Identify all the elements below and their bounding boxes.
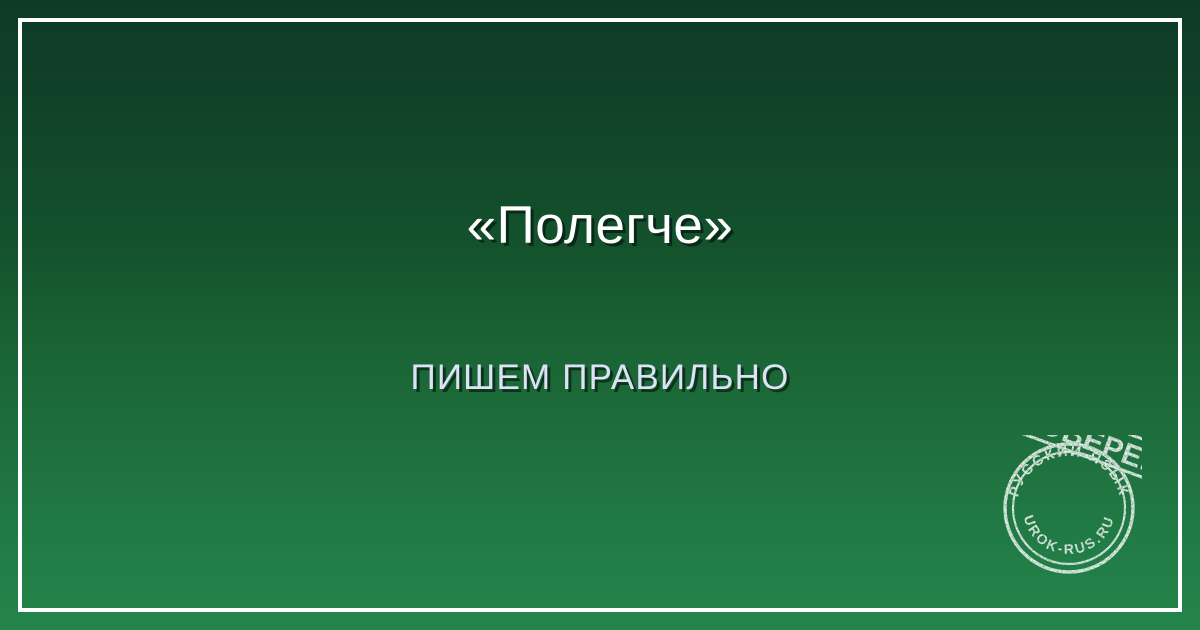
stamp-bottom-arc-textpath: UROK-RUS.RU [1021, 513, 1118, 557]
stamp-bottom-arc-text: UROK-RUS.RU [1021, 513, 1118, 557]
page-subtitle: ПИШЕМ ПРАВИЛЬНО [0, 358, 1200, 398]
word-card: «Полегче» ПИШЕМ ПРАВИЛЬНО [0, 0, 1200, 630]
verified-stamp: РУССКИЙ ЯЗЫК UROK-RUS.RU ПРОВЕРЕНО [996, 435, 1142, 581]
page-title: «Полегче» [0, 197, 1200, 255]
